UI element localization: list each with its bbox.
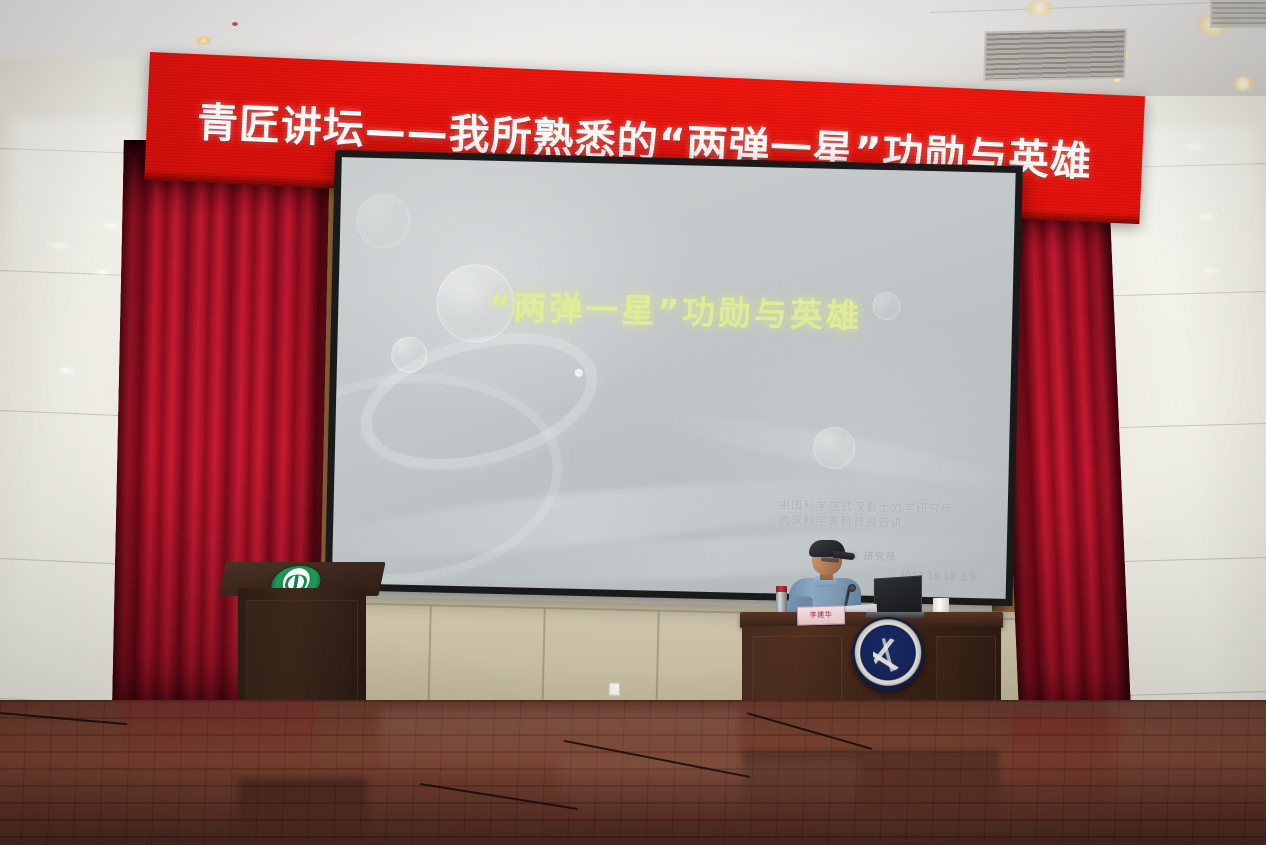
wall-outlet-icon — [609, 683, 620, 696]
stage-floor — [0, 700, 1266, 845]
table-institute-emblem-icon — [852, 617, 924, 691]
downlight-icon — [1232, 76, 1254, 91]
floor-highlight — [1110, 700, 1266, 820]
nameplate-text: 李建华 — [798, 609, 844, 620]
podium-reflection — [238, 778, 368, 840]
slide-organization: 中国科学院武汉岩土力学研究所 武汉科学家科普报告讲 — [778, 498, 954, 532]
ventilation-grille-icon — [1210, 0, 1266, 28]
downlight-icon — [196, 36, 211, 45]
curtain-reflection — [1010, 716, 1122, 794]
microphone-icon — [848, 584, 856, 592]
projection-screen: “两弹一星”功勋与英雄 中国科学院武汉岩土力学研究所 武汉科学家科普报告讲 李建… — [332, 157, 1016, 599]
emblem-calligraphy-glyph — [873, 638, 903, 672]
curtain-reflection — [120, 700, 316, 770]
laptop-screen[interactable] — [874, 575, 922, 617]
smoke-detector-icon — [232, 22, 238, 26]
lecture-hall-scene: 青匠讲坛——我所熟悉的“两弹一星”功勋与英雄 “两弹一星”功勋与英雄 中国科学院… — [0, 0, 1266, 845]
speaker-nameplate: 李建华 — [797, 605, 845, 625]
projection-screen-frame: “两弹一星”功勋与英雄 中国科学院武汉岩土力学研究所 武汉科学家科普报告讲 李建… — [325, 150, 1023, 606]
ventilation-grille-icon — [983, 29, 1127, 82]
downlight-icon — [1026, 0, 1053, 16]
